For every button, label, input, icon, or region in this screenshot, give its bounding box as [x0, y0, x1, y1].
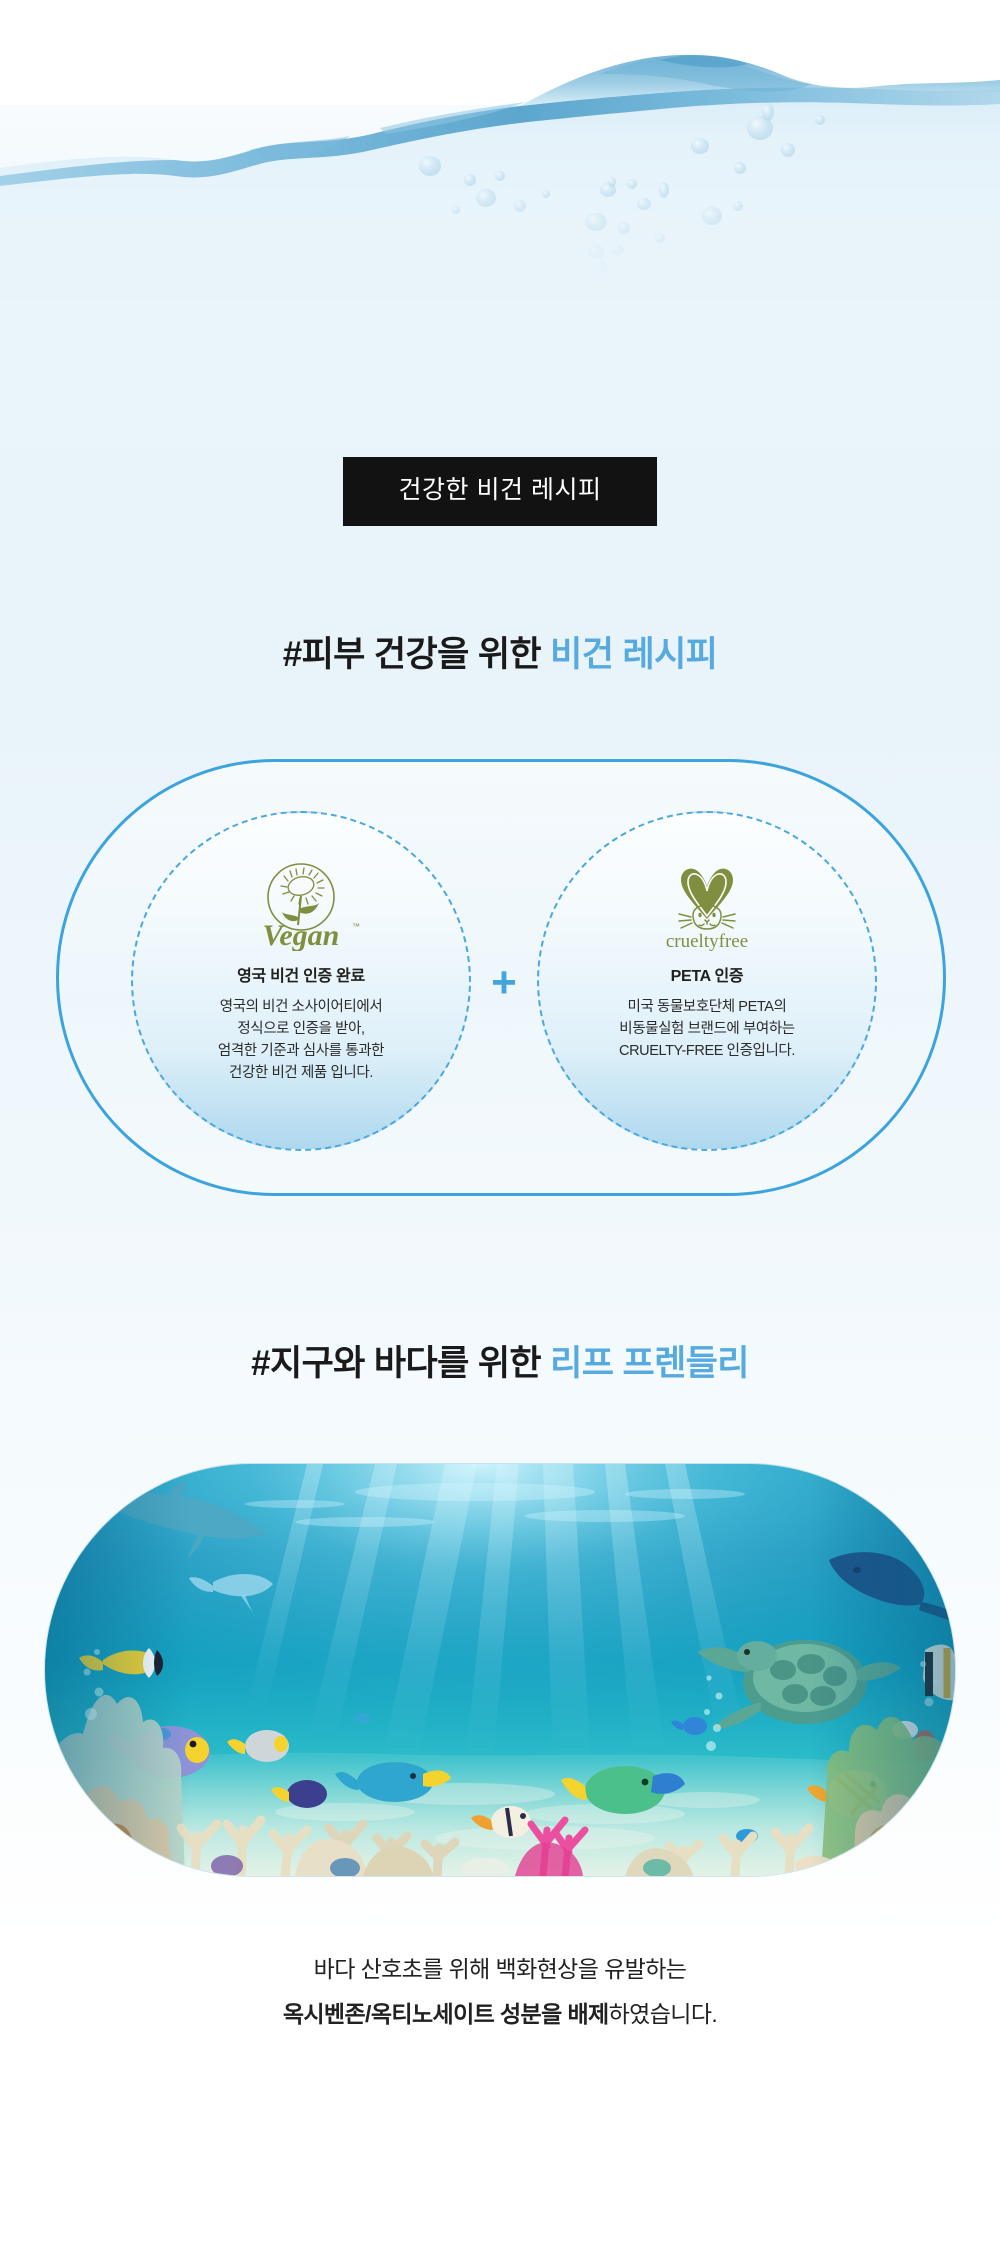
certification-card-peta: crueltyfree PETA 인증 미국 동물보호단체 PETA의 비동물실… [537, 811, 877, 1151]
cruelty-free-bunny-icon: crueltyfree [645, 859, 769, 951]
certification-row: Vegan ™ 영국 비건 인증 완료 영국의 비건 소사이어티에서 정식으로 … [59, 762, 949, 1199]
page-title-reef-friendly: #지구와 바다를 위한 리프 프렌들리 [0, 1343, 1000, 1385]
heading-vegan-dark: #피부 건강을 위한 [283, 635, 550, 674]
heading-reef-highlight: 리프 프렌들리 [550, 1344, 749, 1383]
footer-line-1: 바다 산호초를 위해 백화현상을 유발하는 [314, 1956, 687, 1982]
certification-desc-line: 엄격한 기준과 심사를 통과한 [218, 1040, 384, 1062]
footer-line-2-bold: 옥시벤존/옥티노세이트 성분을 배제 [283, 2001, 609, 2027]
svg-text:™: ™ [352, 922, 360, 931]
vegan-logo-wordmark: Vegan [263, 919, 340, 951]
heading-vegan-highlight: 비건 레시피 [550, 635, 717, 674]
certification-desc-line: 영국의 비건 소사이어티에서 [218, 996, 384, 1018]
underwater-reef-image [45, 1464, 955, 1876]
reef-friendly-description: 바다 산호초를 위해 백화현상을 유발하는 옥시벤존/옥티노세이트 성분을 배제… [0, 1951, 1000, 2034]
certification-panel: Vegan ™ 영국 비건 인증 완료 영국의 비건 소사이어티에서 정식으로 … [56, 759, 946, 1196]
certification-desc-line: CRUELTY-FREE 인증입니다. [619, 1040, 795, 1062]
certification-desc-line: 비동물실험 브랜드에 부여하는 [619, 1018, 795, 1040]
page-title-vegan-recipe: #피부 건강을 위한 비건 레시피 [0, 634, 1000, 676]
reef-illustration [45, 1464, 955, 1876]
vegan-society-sunflower-icon: Vegan ™ [239, 859, 363, 951]
certification-description: 영국의 비건 소사이어티에서 정식으로 인증을 받아, 엄격한 기준과 심사를 … [218, 996, 384, 1084]
hero-water-image [0, 0, 1000, 300]
cruelty-free-wordmark: crueltyfree [666, 931, 748, 951]
section-badge-wrapper: 건강한 비건 레시피 [0, 457, 1000, 526]
certification-description: 미국 동물보호단체 PETA의 비동물실험 브랜드에 부여하는 CRUELTY-… [619, 996, 795, 1062]
heading-reef-dark: #지구와 바다를 위한 [251, 1344, 550, 1383]
certification-title: 영국 비건 인증 완료 [237, 969, 365, 985]
footer-line-2: 옥시벤존/옥티노세이트 성분을 배제하였습니다. [0, 1996, 1000, 2033]
certification-desc-line: 미국 동물보호단체 PETA의 [619, 996, 795, 1018]
vegan-recipe-badge: 건강한 비건 레시피 [343, 457, 658, 526]
footer-line-2-rest: 하였습니다. [609, 2001, 718, 2027]
plus-separator-icon: + [473, 961, 535, 1005]
certification-desc-line: 정식으로 인증을 받아, [218, 1018, 384, 1040]
certification-card-vegan: Vegan ™ 영국 비건 인증 완료 영국의 비건 소사이어티에서 정식으로 … [131, 811, 471, 1151]
certification-desc-line: 건강한 비건 제품 입니다. [218, 1062, 384, 1084]
certification-title: PETA 인증 [671, 969, 744, 985]
hero-bottom-fade [0, 182, 1000, 300]
